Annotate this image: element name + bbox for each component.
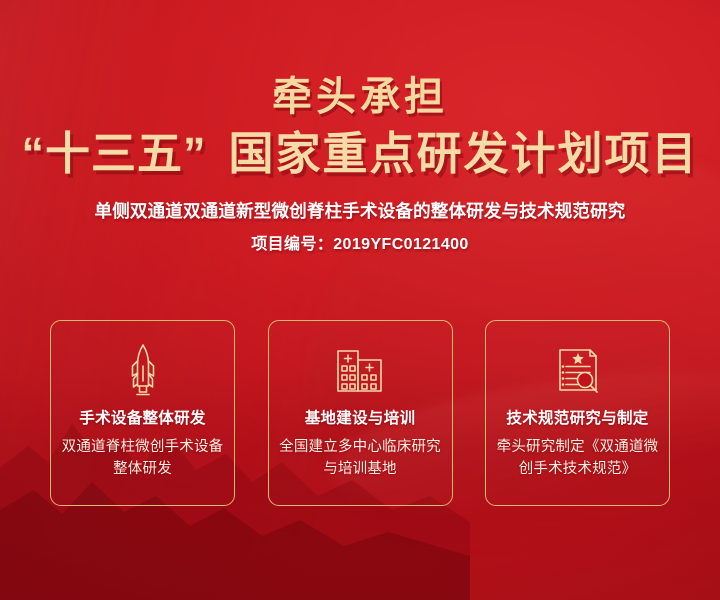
title-quoted-term: “十三五” — [21, 128, 206, 179]
feature-card-base-training[interactable]: 基地建设与培训 全国建立多中心临床研究与培训基地 — [268, 320, 453, 506]
rocket-icon — [117, 343, 169, 397]
feature-card-description: 双通道脊柱微创手术设备整体研发 — [59, 436, 227, 480]
feature-card-list: 手术设备整体研发 双通道脊柱微创手术设备整体研发 — [50, 320, 670, 506]
title-line-primary: 牵头承担 — [0, 74, 720, 120]
feature-card-description: 牵头研究制定《双通道微创手术技术规范》 — [494, 436, 662, 480]
feature-card-description: 全国建立多中心临床研究与培训基地 — [276, 436, 444, 480]
feature-card-title: 手术设备整体研发 — [79, 409, 205, 429]
feature-card-technical-standard[interactable]: 技术规范研究与制定 牵头研究制定《双通道微创手术技术规范》 — [485, 320, 670, 506]
title-line-secondary: “十三五”国家重点研发计划项目 — [0, 126, 720, 182]
feature-card-title: 技术规范研究与制定 — [506, 409, 648, 429]
project-number: 项目编号：2019YFC0121400 — [0, 233, 720, 257]
hospital-building-icon — [334, 343, 386, 397]
project-subtitle: 单侧双通道双通道新型微创脊柱手术设备的整体研发与技术规范研究 — [0, 198, 720, 224]
headline-block: 牵头承担 “十三五”国家重点研发计划项目 单侧双通道双通道新型微创脊柱手术设备的… — [0, 74, 720, 257]
promo-banner: 牵头承担 “十三五”国家重点研发计划项目 单侧双通道双通道新型微创脊柱手术设备的… — [0, 0, 720, 600]
title-program-name: 国家重点研发计划项目 — [229, 128, 699, 179]
feature-card-equipment-rnd[interactable]: 手术设备整体研发 双通道脊柱微创手术设备整体研发 — [50, 320, 235, 506]
feature-card-title: 基地建设与培训 — [305, 409, 416, 429]
document-magnifier-icon — [552, 343, 604, 397]
